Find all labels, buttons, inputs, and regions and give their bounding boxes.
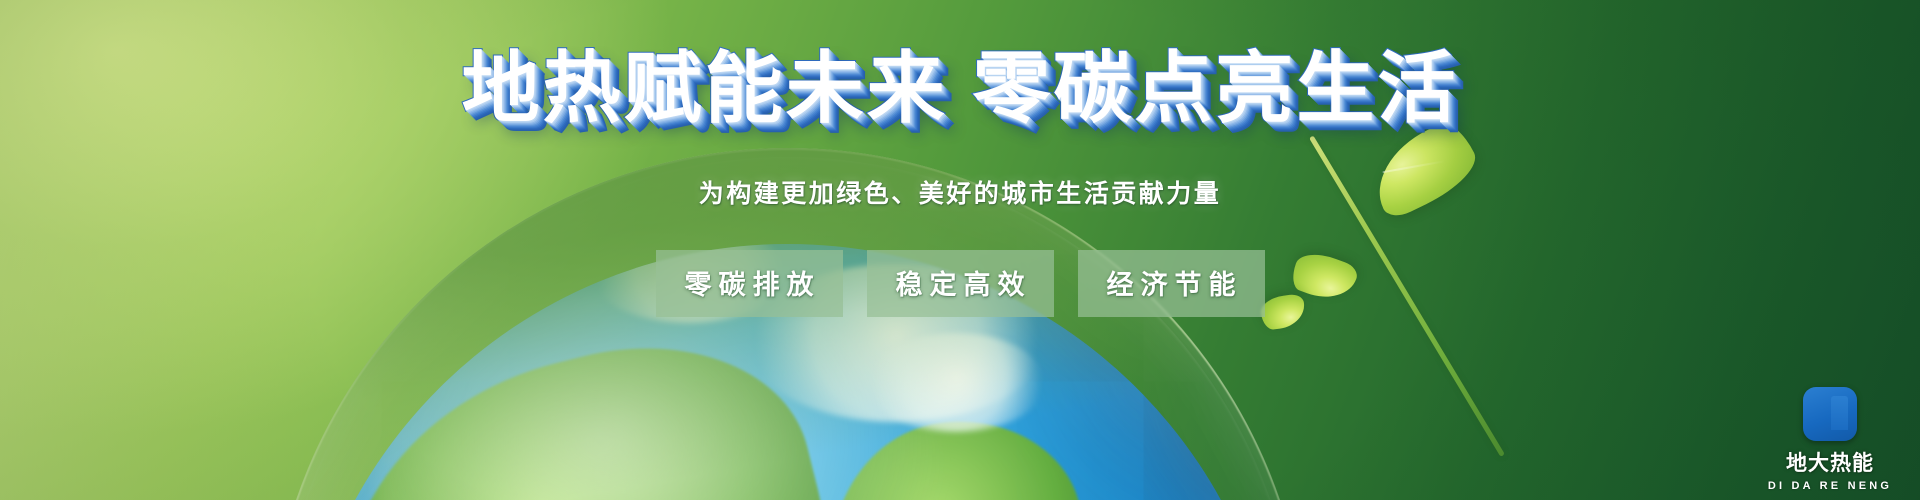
feature-badge-zero-carbon[interactable]: 零碳排放 bbox=[656, 250, 843, 317]
feature-badge-list: 零碳排放 稳定高效 经济节能 bbox=[656, 250, 1265, 317]
promo-banner: 地热赋能未来 零碳点亮生活 为构建更加绿色、美好的城市生活贡献力量 零碳排放 稳… bbox=[0, 0, 1920, 500]
banner-headline: 地热赋能未来 零碳点亮生活 bbox=[462, 48, 1459, 130]
feature-badge-economical[interactable]: 经济节能 bbox=[1078, 250, 1265, 317]
logo-mark-icon bbox=[1803, 387, 1857, 441]
company-logo[interactable]: 地大热能 DI DA RE NENG bbox=[1766, 387, 1894, 492]
rainbow-arc-yellow bbox=[1803, 387, 1857, 441]
logo-name-en: DI DA RE NENG bbox=[1768, 480, 1892, 492]
banner-content: 地热赋能未来 零碳点亮生活 为构建更加绿色、美好的城市生活贡献力量 零碳排放 稳… bbox=[0, 0, 1920, 500]
logo-name-cn: 地大热能 bbox=[1786, 447, 1874, 477]
feature-badge-stable-efficient[interactable]: 稳定高效 bbox=[867, 250, 1054, 317]
logo-notch bbox=[1831, 396, 1848, 430]
banner-subheadline: 为构建更加绿色、美好的城市生活贡献力量 bbox=[699, 174, 1222, 210]
